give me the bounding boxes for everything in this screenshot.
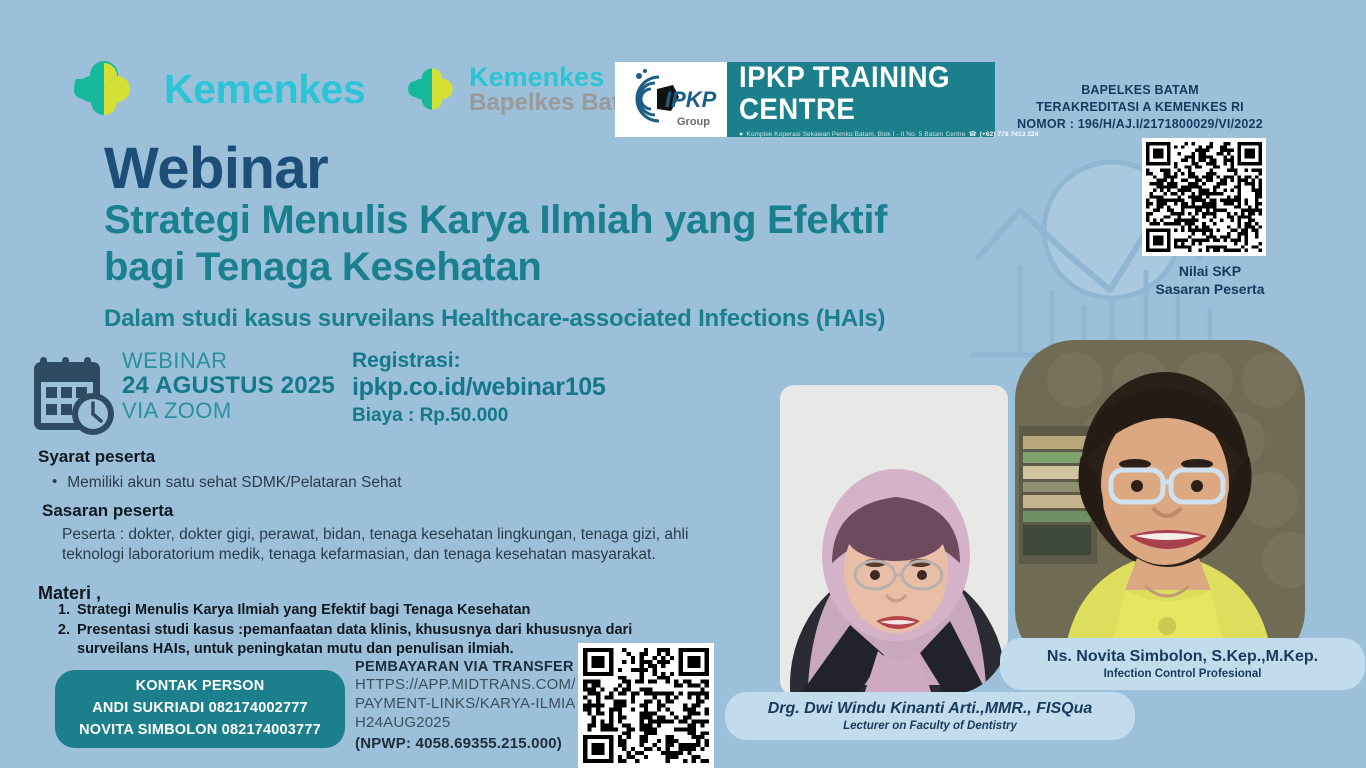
qr-skp-caption-line2: Sasaran Peserta bbox=[1120, 281, 1300, 299]
event-date-block: WEBINAR 24 AGUSTUS 2025 VIA ZOOM bbox=[122, 349, 335, 422]
requirement-item: Memiliki akun satu sehat SDMK/Pelataran … bbox=[67, 473, 401, 493]
payment-npwp: (NPWP: 4058.69355.215.000) bbox=[355, 735, 580, 752]
bullet-icon: • bbox=[52, 473, 57, 491]
event-label: WEBINAR bbox=[122, 349, 335, 373]
ipkp-banner-title: IPKP TRAINING CENTRE bbox=[739, 62, 1015, 125]
calendar-clock-icon bbox=[30, 352, 122, 440]
qr-code-skp[interactable] bbox=[1142, 138, 1266, 256]
ipkp-training-centre-banner: IPKP Group IPKP TRAINING CENTRE ● Komple… bbox=[615, 62, 995, 137]
speaker-photo-dwi-windu bbox=[780, 385, 1008, 695]
payment-block: PEMBAYARAN VIA TRANSFER HTTPS://APP.MIDT… bbox=[355, 659, 580, 752]
kemenkes-flower-icon bbox=[70, 58, 138, 120]
registration-fee: Biaya : Rp.50.000 bbox=[352, 405, 606, 426]
speaker-name-pill-dwi-windu: Drg. Dwi Windu Kinanti Arti.,MMR., FISQu… bbox=[725, 692, 1135, 740]
payment-title: PEMBAYARAN VIA TRANSFER bbox=[355, 659, 580, 675]
accreditation-line2: TERAKREDITASI A KEMENKES RI bbox=[990, 99, 1290, 116]
contact-person-1: ANDI SUKRIADI 082174002777 bbox=[92, 698, 308, 720]
registration-label: Registrasi: bbox=[352, 349, 606, 373]
requirements-heading: Syarat peserta bbox=[38, 447, 155, 467]
event-date: 24 AGUSTUS 2025 bbox=[122, 373, 335, 399]
requirements-list: • Memiliki akun satu sehat SDMK/Pelatara… bbox=[52, 473, 652, 493]
contact-person-2: NOVITA SIMBOLON 082174003777 bbox=[79, 720, 321, 742]
payment-url[interactable]: HTTPS://APP.MIDTRANS.COM/PAYMENT-LINKS/K… bbox=[355, 675, 580, 733]
qr-code-payment[interactable] bbox=[578, 643, 714, 768]
location-pin-icon: ● bbox=[739, 131, 743, 138]
page-title: Webinar bbox=[104, 140, 328, 198]
ipkp-group-logo-icon: IPKP Group bbox=[615, 62, 727, 137]
accreditation-block: BAPELKES BATAM TERAKREDITASI A KEMENKES … bbox=[990, 82, 1290, 133]
accreditation-line3: NOMOR : 196/H/AJ.I/2171800029/VI/2022 bbox=[990, 116, 1290, 133]
audience-text: Peserta : dokter, dokter gigi, perawat, … bbox=[62, 525, 734, 565]
svg-text:Group: Group bbox=[677, 116, 710, 128]
title-subtitle: Dalam studi kasus surveilans Healthcare-… bbox=[104, 305, 885, 333]
svg-text:IPKP: IPKP bbox=[665, 87, 717, 112]
ipkp-banner-address: Komplek Koperasi Sekawan Pemko Batam, Bl… bbox=[746, 131, 965, 138]
contact-title: KONTAK PERSON bbox=[136, 676, 265, 698]
contact-person-box: KONTAK PERSON ANDI SUKRIADI 082174002777… bbox=[55, 670, 345, 748]
phone-icon: ☎ bbox=[969, 130, 977, 138]
speaker-role: Infection Control Profesional bbox=[1104, 668, 1262, 680]
webinar-poster: Kemenkes Kemenkes Bapelkes Batam bbox=[0, 0, 1366, 768]
audience-heading: Sasaran peserta bbox=[42, 501, 173, 521]
speaker-name: Ns. Novita Simbolon, S.Kep.,M.Kep. bbox=[1047, 648, 1318, 666]
kemenkes-wordmark: Kemenkes bbox=[164, 69, 365, 110]
qr-skp-caption: Nilai SKP Sasaran Peserta bbox=[1120, 263, 1300, 298]
event-platform: VIA ZOOM bbox=[122, 399, 335, 423]
registration-block: Registrasi: ipkp.co.id/webinar105 Biaya … bbox=[352, 349, 606, 426]
title-line-1: Strategi Menulis Karya Ilmiah yang Efekt… bbox=[104, 198, 887, 243]
speaker-role: Lecturer on Faculty of Dentistry bbox=[843, 720, 1017, 732]
accreditation-line1: BAPELKES BATAM bbox=[990, 82, 1290, 99]
qr-skp-caption-line1: Nilai SKP bbox=[1120, 263, 1300, 281]
kemenkes-flower-icon bbox=[405, 64, 459, 114]
speaker-photo-novita-simbolon bbox=[1015, 340, 1305, 670]
speaker-name-pill-novita: Ns. Novita Simbolon, S.Kep.,M.Kep. Infec… bbox=[1000, 638, 1365, 690]
title-line-2: bagi Tenaga Kesehatan bbox=[104, 245, 542, 290]
speaker-name: Drg. Dwi Windu Kinanti Arti.,MMR., FISQu… bbox=[768, 700, 1093, 718]
registration-url[interactable]: ipkp.co.id/webinar105 bbox=[352, 373, 606, 401]
logo-row: Kemenkes Kemenkes Bapelkes Batam bbox=[70, 58, 655, 120]
material-item: Strategi Menulis Karya Ilmiah yang Efekt… bbox=[74, 601, 688, 620]
